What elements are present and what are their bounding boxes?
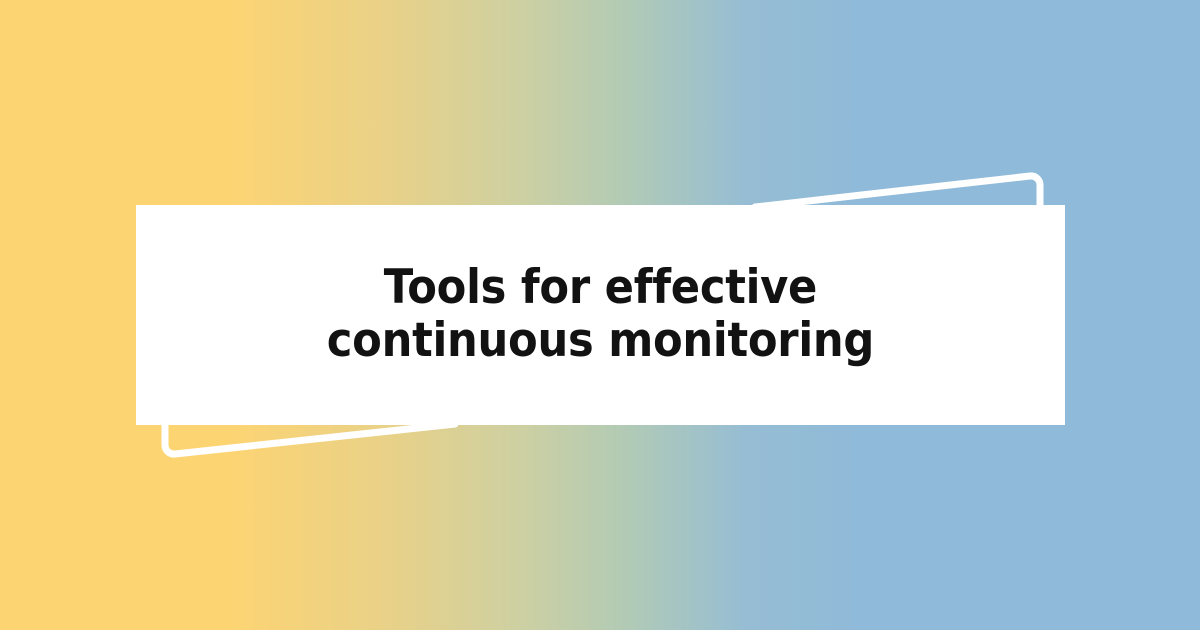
title-card: Tools for effective continuous monitorin… [136, 205, 1065, 425]
title-slide: Tools for effective continuous monitorin… [0, 0, 1200, 630]
page-title: Tools for effective continuous monitorin… [327, 262, 874, 367]
title-card-content: Tools for effective continuous monitorin… [136, 205, 1065, 425]
